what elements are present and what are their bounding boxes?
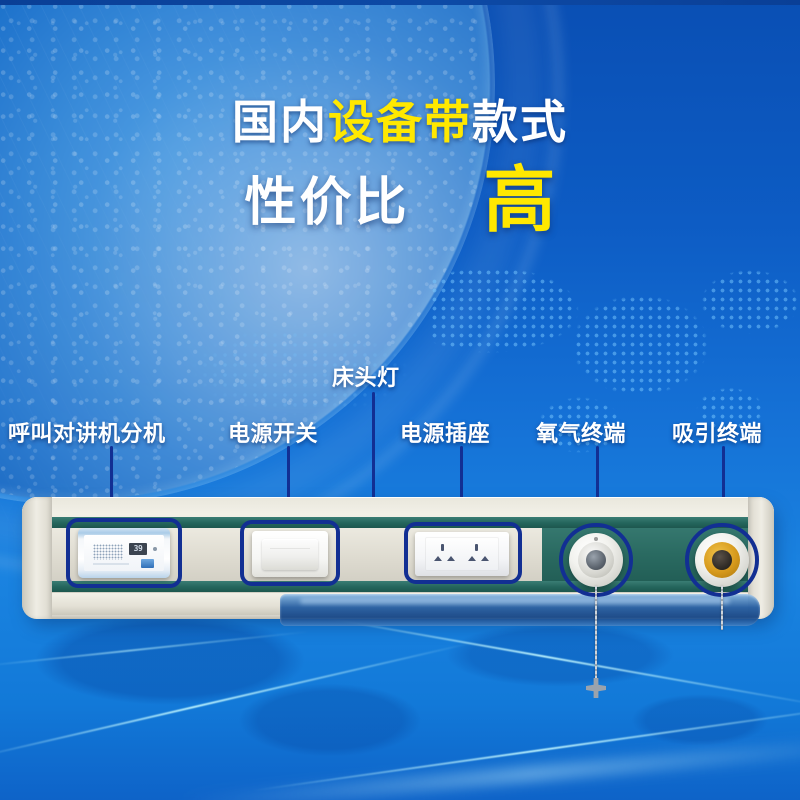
- top-edge-bar: [0, 0, 800, 5]
- highlight-box-switch: [240, 520, 340, 586]
- callout-label-oxygen-terminal: 氧气终端: [536, 416, 626, 448]
- headline-primary: 国内设备带款式: [0, 86, 800, 152]
- pull-cord[interactable]: [595, 586, 597, 682]
- callout-label-suction-terminal: 吸引终端: [672, 416, 762, 448]
- headline-part-3: 款式: [472, 96, 568, 148]
- headline-value-text: 性价比: [244, 160, 409, 235]
- callout-label-nurse-call-intercom: 呼叫对讲机分机: [8, 416, 166, 448]
- callout-label-bed-head-lamp: 床头灯: [332, 360, 400, 392]
- headline-part-2: 设备带: [328, 96, 472, 148]
- panel-end-cap-left: [22, 497, 52, 619]
- highlight-box-socket: [404, 522, 522, 584]
- callout-label-power-socket: 电源插座: [400, 416, 490, 448]
- highlight-box-intercom: [66, 518, 182, 588]
- blue-rail-highlight: [300, 598, 730, 604]
- callout-label-power-switch: 电源开关: [228, 416, 318, 448]
- product-banner: 国内设备带款式 性价比 高 呼叫对讲机分机 电源开关 床头灯 电源插座 氧气终端…: [0, 0, 800, 800]
- headline-secondary: 性价比 高: [0, 160, 800, 235]
- headline-accent-text: 高: [484, 167, 556, 235]
- pull-cord-secondary[interactable]: [721, 586, 723, 630]
- headline-part-1: 国内: [232, 96, 328, 148]
